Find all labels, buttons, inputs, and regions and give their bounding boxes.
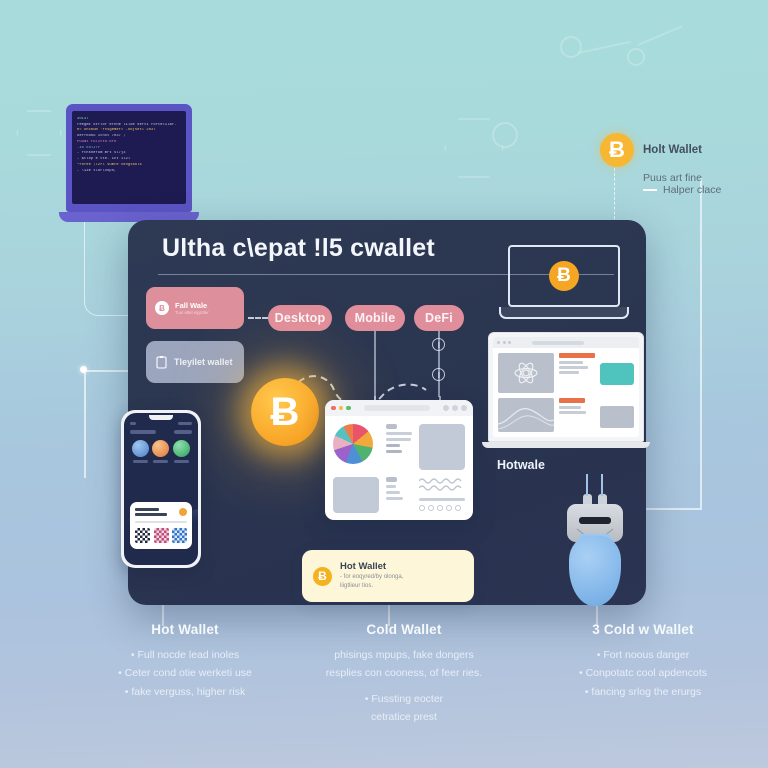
laptop-lid: 30137 reegmt otrlof erche liloe serti fo… bbox=[66, 104, 192, 212]
legend-top-line-3: Halper clace bbox=[663, 184, 721, 196]
mini-icon bbox=[437, 505, 443, 511]
connector-left-vertical bbox=[84, 370, 86, 478]
hardware-wallet bbox=[563, 486, 627, 611]
card-paper-wallet[interactable]: Tleyilet wallet bbox=[146, 341, 244, 383]
btc-laptop-lid: Ƀ bbox=[508, 245, 620, 307]
browser-misc-block bbox=[419, 477, 465, 513]
deco-circle-3 bbox=[627, 48, 645, 66]
hw-wire-left bbox=[586, 474, 588, 496]
bottom-column-item: • fancing srlog the erurgs bbox=[520, 683, 766, 701]
bottom-column-hot-wallet: Hot Wallet • Full nocde lead inoles • Ce… bbox=[62, 622, 308, 701]
callout-line-2: liigtlieur tios. bbox=[340, 582, 403, 591]
dashboard-text-1 bbox=[559, 353, 595, 393]
phone-icon-row bbox=[130, 440, 192, 457]
label-hotwale: Hotwale bbox=[497, 458, 545, 472]
callout-title: Hot Wallet bbox=[340, 561, 403, 573]
connector-dot-left bbox=[80, 366, 87, 373]
dashboard-accent-bar bbox=[559, 353, 595, 358]
dashboard-graphic-1 bbox=[498, 353, 554, 393]
line-chart-icon bbox=[498, 398, 554, 432]
deco-hexagon-2 bbox=[16, 110, 62, 156]
close-icon[interactable] bbox=[331, 406, 336, 411]
terminal-laptop: 30137 reegmt otrlof erche liloe serti fo… bbox=[66, 104, 192, 222]
deco-line-2 bbox=[638, 25, 683, 46]
connector-right-vertical bbox=[700, 178, 702, 508]
bottom-column-item: cetratice prest bbox=[288, 708, 520, 726]
browser-content bbox=[325, 416, 473, 520]
browser-mockup bbox=[325, 400, 473, 520]
card-full-wallet[interactable]: Ƀ Fall Wale Tuur ettel etg4zler bbox=[146, 287, 244, 329]
browser-titlebar bbox=[325, 400, 473, 416]
bitcoin-coin-main: Ƀ bbox=[251, 378, 319, 446]
terminal-line: - \i3e tlorlxopn, bbox=[77, 169, 181, 175]
bottom-column-item: resplies con cooness, of feer ries. bbox=[288, 664, 520, 682]
window-dot bbox=[508, 341, 511, 344]
callout-hot-wallet[interactable]: Ƀ Hot Wallet - for eoqyred/by olonga, li… bbox=[302, 550, 474, 602]
dashboard-accent-bar bbox=[559, 398, 585, 403]
dashboard-block bbox=[600, 406, 634, 428]
window-dot bbox=[497, 341, 500, 344]
dashboard-text-2 bbox=[559, 398, 595, 432]
browser-image-block-1 bbox=[419, 424, 465, 470]
laptop-dashboard-base bbox=[482, 442, 650, 448]
browser-action-2[interactable] bbox=[452, 405, 458, 411]
bottom-column-heading: Hot Wallet bbox=[62, 622, 308, 637]
qr-code-2[interactable] bbox=[154, 528, 169, 543]
bottom-column-item: • Full nocde lead inoles bbox=[62, 646, 308, 664]
bottom-column-item: • Conpotatc cool apdencots bbox=[520, 664, 766, 682]
btc-laptop-base bbox=[499, 307, 629, 319]
deco-circle-2 bbox=[560, 36, 582, 58]
mini-icon bbox=[455, 505, 461, 511]
phone-icon-labels bbox=[130, 460, 192, 463]
maximize-icon[interactable] bbox=[346, 406, 351, 411]
browser-action-3[interactable] bbox=[461, 405, 467, 411]
btc-laptop: Ƀ bbox=[508, 245, 620, 319]
page-title: Ultha c\epat !l5 cwallet bbox=[162, 234, 435, 263]
pie-chart bbox=[333, 424, 373, 464]
phone-status-bar bbox=[130, 422, 192, 425]
dashboard-chart bbox=[498, 398, 554, 432]
chip-desktop[interactable]: Desktop bbox=[268, 305, 332, 331]
bottom-column-item: • Fort noous danger bbox=[520, 646, 766, 664]
bitcoin-icon-legend: Ƀ bbox=[600, 133, 634, 167]
callout-line-1: - for eoqyred/by olonga, bbox=[340, 573, 403, 582]
legend-top-line-3-wrap: Halper clace bbox=[643, 184, 760, 196]
browser-action-1[interactable] bbox=[443, 405, 449, 411]
card-full-wallet-subtitle: Tuur ettel etg4zler bbox=[175, 310, 209, 315]
phone-icon-1[interactable] bbox=[132, 440, 149, 457]
browser-image-block-2 bbox=[333, 477, 379, 513]
dashboard-url-bar[interactable] bbox=[532, 341, 584, 345]
dashboard-titlebar bbox=[493, 337, 639, 348]
browser-text-block-1 bbox=[386, 424, 412, 470]
laptop-dashboard-lid bbox=[488, 332, 644, 442]
dashboard-teal-block bbox=[600, 363, 634, 385]
deco-hexagon bbox=[444, 118, 504, 178]
bottom-column-heading: Cold Wallet bbox=[288, 622, 520, 637]
chip-defi[interactable]: DeFi bbox=[414, 305, 464, 331]
phone-header bbox=[130, 430, 192, 434]
dashboard-content bbox=[493, 348, 639, 437]
deco-circle-1 bbox=[492, 122, 518, 148]
card-paper-wallet-title: Tleyilet wallet bbox=[174, 357, 233, 367]
phone-notch bbox=[149, 415, 173, 420]
mini-icon bbox=[428, 505, 434, 511]
bottom-column-item: • Fussting eocter bbox=[288, 690, 520, 708]
bottom-column-item: • fake verguss, higher risk bbox=[62, 683, 308, 701]
browser-url-bar[interactable] bbox=[364, 405, 431, 411]
bottom-column-cold-wallet: Cold Wallet phisings mpups, fake dongers… bbox=[288, 622, 520, 727]
qr-code-3[interactable] bbox=[172, 528, 187, 543]
phone-card[interactable] bbox=[130, 502, 192, 549]
laptop-dashboard-screen bbox=[493, 337, 639, 437]
qr-code-1[interactable] bbox=[135, 528, 150, 543]
bitcoin-icon-callout: Ƀ bbox=[313, 567, 332, 586]
atom-icon bbox=[513, 360, 539, 386]
wave-icon bbox=[419, 477, 465, 491]
phone-icon-2[interactable] bbox=[152, 440, 169, 457]
legend-top-title: Holt Wallet bbox=[643, 144, 702, 156]
hw-body bbox=[569, 536, 621, 606]
bottom-column-item: • Ceter cond otie werketi use bbox=[62, 664, 308, 682]
phone-screen bbox=[124, 413, 198, 565]
minimize-icon[interactable] bbox=[339, 406, 344, 411]
deco-line-1 bbox=[578, 41, 631, 54]
hw-wire-right bbox=[601, 474, 603, 496]
mini-icon bbox=[419, 505, 425, 511]
bitcoin-coin-laptop: Ƀ bbox=[549, 261, 579, 291]
terminal-screen: 30137 reegmt otrlof erche liloe serti fo… bbox=[72, 111, 186, 204]
document-icon bbox=[156, 356, 167, 369]
chip-mobile[interactable]: Mobile bbox=[345, 305, 405, 331]
card-full-wallet-title: Fall Wale bbox=[175, 301, 209, 310]
legend-top-row: Ƀ Holt Wallet bbox=[600, 133, 760, 167]
wallet-badge-icon: Ƀ bbox=[155, 301, 169, 315]
legend-dash-icon bbox=[643, 189, 657, 191]
bottom-column-heading: 3 Cold w Wallet bbox=[520, 622, 766, 637]
bottom-column-item: phisings mpups, fake dongers bbox=[288, 646, 520, 664]
mini-icon bbox=[446, 505, 452, 511]
hw-display-slot bbox=[579, 517, 611, 524]
legend-top-line-2: Puus art fine bbox=[643, 172, 760, 184]
bottom-column-cold-wallet-3: 3 Cold w Wallet • Fort noous danger • Co… bbox=[520, 622, 766, 701]
laptop-dashboard bbox=[488, 332, 644, 448]
legend-top: Ƀ Holt Wallet Puus art fine Halper clace bbox=[600, 133, 760, 196]
browser-text-block-2 bbox=[386, 477, 412, 513]
window-dot bbox=[503, 341, 506, 344]
phone-icon-3[interactable] bbox=[173, 440, 190, 457]
phone-mockup bbox=[121, 410, 201, 568]
